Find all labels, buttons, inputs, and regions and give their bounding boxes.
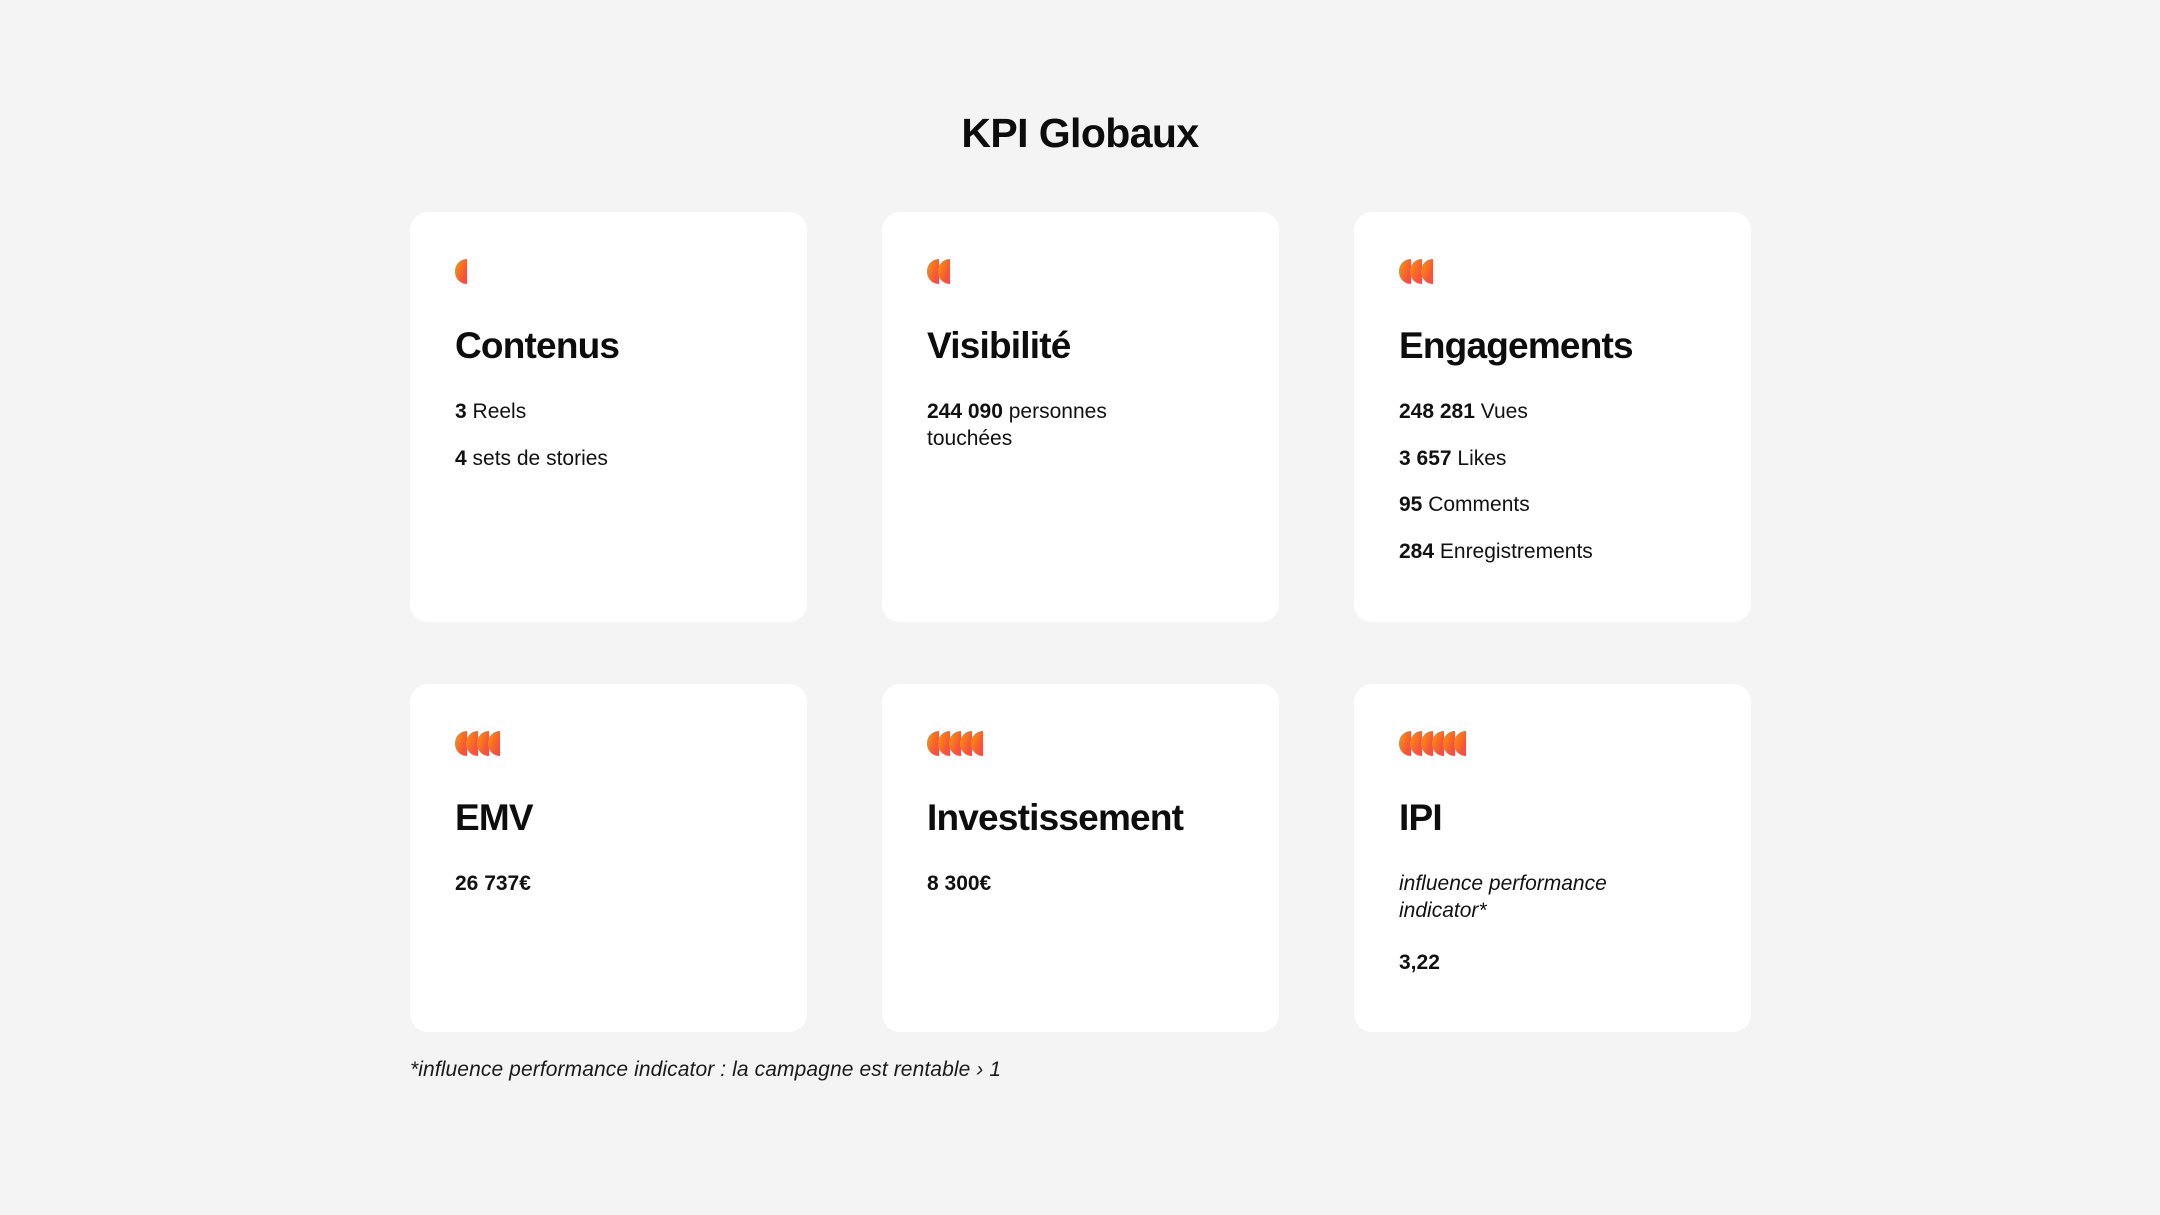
kpi-card: IPIinfluence performance indicator*3,22 [1354, 684, 1751, 1032]
kpi-card: Engagements248 281 Vues3 657 Likes95 Com… [1354, 212, 1751, 622]
kpi-stat-line: 284 Enregistrements [1399, 539, 1649, 566]
kpi-card-title: Investissement [927, 798, 1234, 839]
half-disc-rating-icon [1399, 256, 1706, 286]
half-disc-rating-icon [927, 728, 1234, 758]
kpi-stat-label: Enregistrements [1434, 540, 1593, 563]
kpi-card-stats: influence performance indicator*3,22 [1399, 871, 1706, 978]
kpi-stat-value: 26 737€ [455, 872, 531, 895]
kpi-stat-value: 284 [1399, 540, 1434, 563]
kpi-stat-label: Comments [1422, 493, 1529, 516]
kpi-card: Investissement8 300€ [882, 684, 1279, 1032]
kpi-stat-value: 3 657 [1399, 447, 1452, 470]
kpi-dashboard-page: KPI Globaux Contenus3 Reels4 sets de sto… [0, 0, 2160, 1215]
kpi-card-stats: 248 281 Vues3 657 Likes95 Comments284 En… [1399, 399, 1706, 567]
kpi-stat-value: 8 300€ [927, 872, 991, 895]
kpi-stat-value: 4 [455, 447, 467, 470]
kpi-stat-label: Reels [467, 400, 527, 423]
kpi-stat-line: 244 090 personnes touchées [927, 399, 1177, 453]
half-disc-rating-icon [1399, 728, 1706, 758]
kpi-stat-line: 3 Reels [455, 399, 705, 426]
kpi-cards-grid: Contenus3 Reels4 sets de storiesVisibili… [410, 212, 1752, 1032]
kpi-stat-value: 3 [455, 400, 467, 423]
kpi-stat-line: 3,22 [1399, 950, 1649, 977]
kpi-stat-line: 95 Comments [1399, 492, 1649, 519]
half-disc-shape [455, 259, 467, 284]
kpi-card-title: EMV [455, 798, 762, 839]
half-disc-shape [1421, 259, 1433, 284]
kpi-stat-label: Vues [1475, 400, 1528, 423]
footnote-text: *influence performance indicator : la ca… [410, 1058, 1001, 1082]
kpi-card-title: Engagements [1399, 326, 1706, 367]
kpi-stat-line: 8 300€ [927, 871, 1177, 898]
kpi-card-stats: 3 Reels4 sets de stories [455, 399, 762, 473]
kpi-card-title: Contenus [455, 326, 762, 367]
kpi-stat-value: 95 [1399, 493, 1422, 516]
kpi-stat-line: 3 657 Likes [1399, 446, 1649, 473]
half-disc-rating-icon [455, 728, 762, 758]
half-disc-shape [938, 259, 950, 284]
half-disc-shape [488, 731, 500, 756]
half-disc-shape [971, 731, 983, 756]
half-disc-shape [1454, 731, 1466, 756]
kpi-card-title: Visibilité [927, 326, 1234, 367]
kpi-stat-line: 26 737€ [455, 871, 705, 898]
half-disc-rating-icon [455, 256, 762, 286]
kpi-stat-line: 4 sets de stories [455, 446, 705, 473]
kpi-stat-label: Likes [1452, 447, 1507, 470]
kpi-card: EMV26 737€ [410, 684, 807, 1032]
kpi-stat-line: 248 281 Vues [1399, 399, 1649, 426]
kpi-stat-value: 244 090 [927, 400, 1003, 423]
kpi-stat-label: sets de stories [467, 447, 608, 470]
kpi-card-stats: 26 737€ [455, 871, 762, 898]
kpi-card-stats: 244 090 personnes touchées [927, 399, 1234, 453]
kpi-card-note: influence performance indicator* [1399, 871, 1659, 925]
kpi-stat-value: 248 281 [1399, 400, 1475, 423]
half-disc-rating-icon [927, 256, 1234, 286]
kpi-card-title: IPI [1399, 798, 1706, 839]
kpi-card: Visibilité244 090 personnes touchées [882, 212, 1279, 622]
kpi-card-stats: 8 300€ [927, 871, 1234, 898]
page-title: KPI Globaux [0, 110, 2160, 157]
kpi-stat-value: 3,22 [1399, 951, 1440, 974]
kpi-card: Contenus3 Reels4 sets de stories [410, 212, 807, 622]
